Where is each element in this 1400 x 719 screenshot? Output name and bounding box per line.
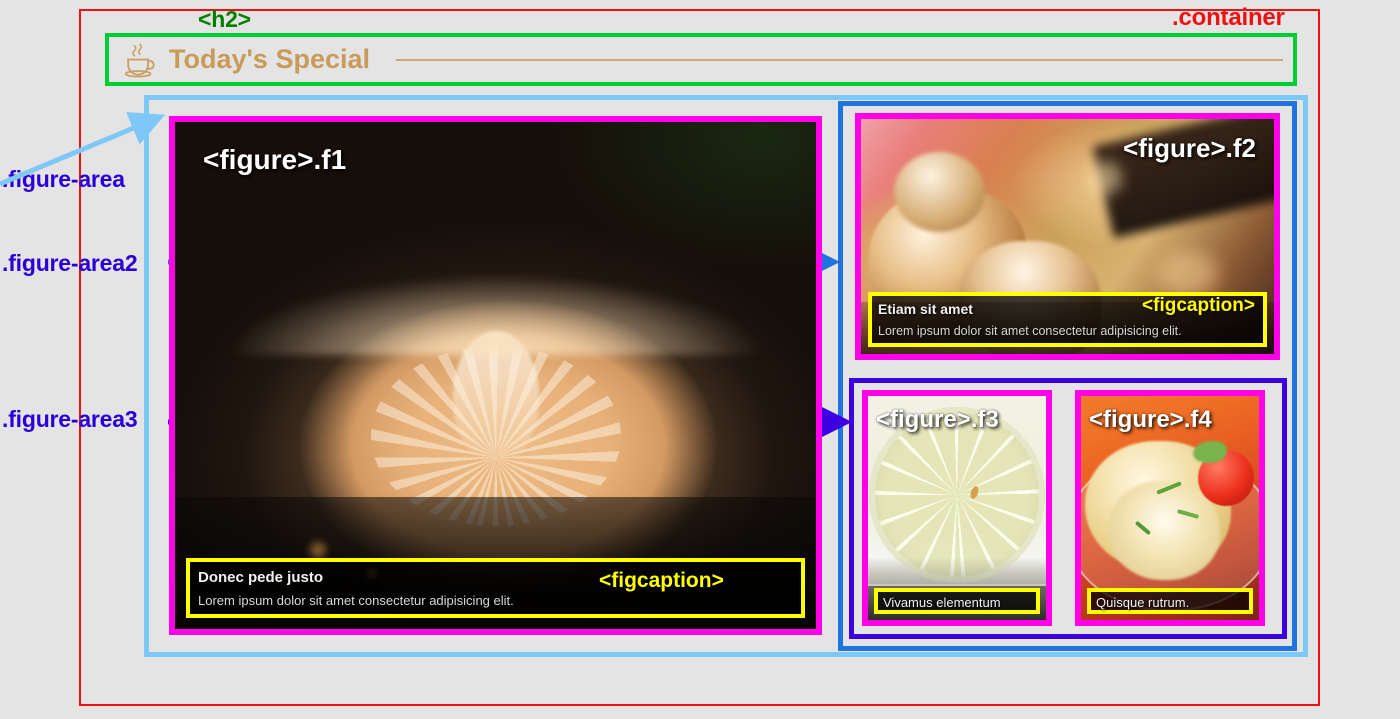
figcaption-f1-body: Lorem ipsum dolor sit amet consectetur a…: [198, 593, 514, 608]
heading-rule: [396, 59, 1283, 61]
annotated-layout-diagram: .container <h2> Today's Special .figure-…: [0, 0, 1400, 719]
figcaption-f1-tag: <figcaption>: [599, 569, 724, 593]
figcaption-f1: Donec pede justo Lorem ipsum dolor sit a…: [186, 558, 805, 618]
figure-f1-tag: <figure>.f1: [203, 144, 346, 176]
figcaption-f4-title: Quisque rutrum.: [1096, 595, 1189, 610]
figure-f4-tag: <figure>.f4: [1089, 406, 1212, 434]
figure-f3-tag: <figure>.f3: [876, 406, 999, 434]
figure-f2-tag: <figure>.f2: [1123, 133, 1256, 164]
figure-f3[interactable]: <figure>.f3 Vivamus elementum: [862, 390, 1052, 626]
figure-area3-label: .figure-area3: [2, 406, 137, 433]
container-label: .container: [1172, 4, 1285, 32]
figcaption-f2-title: Etiam sit amet: [878, 301, 973, 317]
coffee-cup-icon: [123, 42, 157, 78]
h2-label: <h2>: [198, 6, 251, 33]
figure-f2[interactable]: <figure>.f2 Etiam sit amet Lorem ipsum d…: [855, 113, 1280, 360]
figure-area2-label: .figure-area2: [2, 250, 137, 277]
figcaption-f2: Etiam sit amet Lorem ipsum dolor sit ame…: [868, 292, 1267, 347]
figure-area-arrow: [0, 110, 160, 190]
figure-f4[interactable]: <figure>.f4 Quisque rutrum.: [1075, 390, 1265, 626]
page-heading: Today's Special: [109, 37, 1293, 82]
figcaption-f3: Vivamus elementum: [874, 588, 1040, 614]
figcaption-f3-title: Vivamus elementum: [883, 595, 1001, 610]
figcaption-f2-tag: <figcaption>: [1142, 295, 1255, 317]
figcaption-f2-body: Lorem ipsum dolor sit amet consectetur a…: [878, 324, 1182, 338]
figcaption-f1-title: Donec pede justo: [198, 569, 323, 586]
figcaption-f4: Quisque rutrum.: [1087, 588, 1253, 614]
page-title: Today's Special: [169, 44, 370, 75]
figure-f1[interactable]: <figure>.f1 Donec pede justo Lorem ipsum…: [169, 116, 822, 635]
figure-f1-image: [175, 122, 816, 629]
